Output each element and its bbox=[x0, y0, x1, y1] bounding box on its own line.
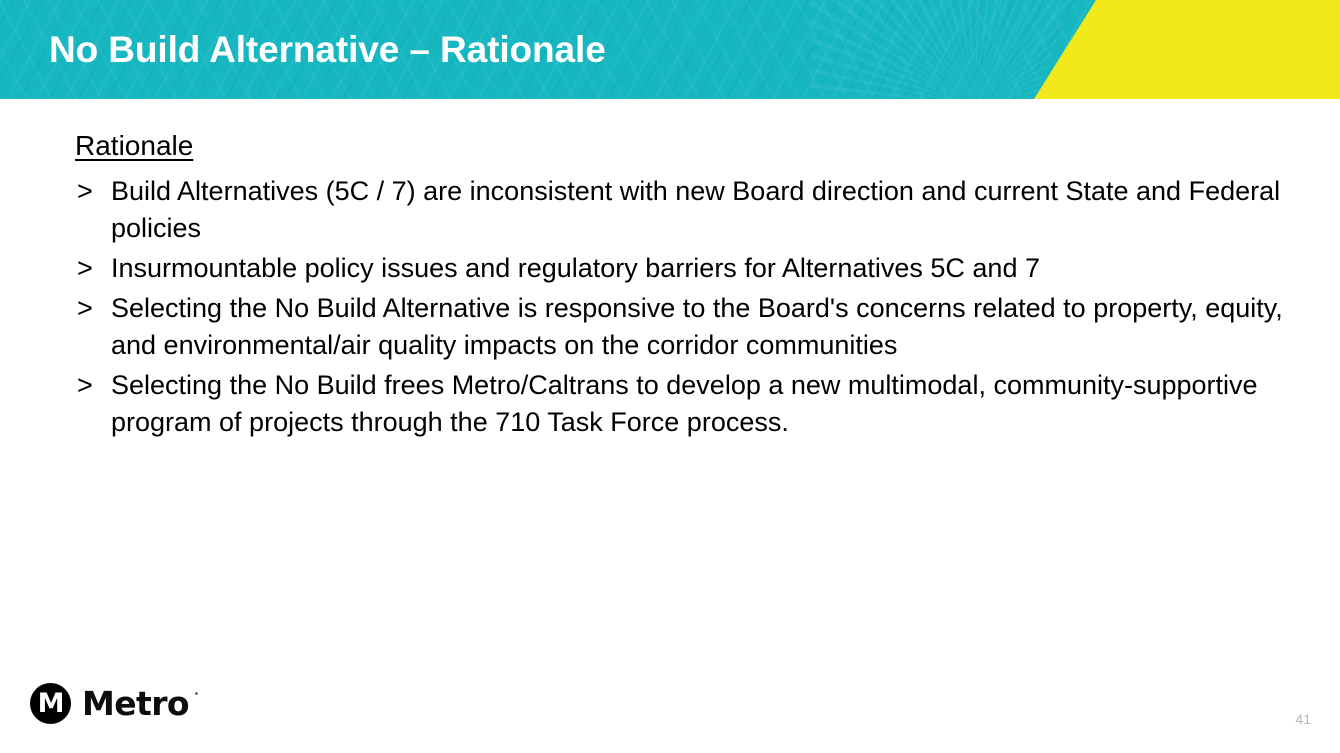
bullet-marker-icon: > bbox=[75, 367, 111, 404]
metro-logo-letter: M bbox=[38, 690, 64, 717]
list-item-text: Selecting the No Build frees Metro/Caltr… bbox=[111, 367, 1290, 441]
bullet-marker-icon: > bbox=[75, 250, 111, 287]
trademark-icon: · bbox=[194, 688, 198, 699]
list-item: > Insurmountable policy issues and regul… bbox=[75, 250, 1290, 287]
slide: No Build Alternative – Rationale Rationa… bbox=[0, 0, 1340, 753]
metro-wordmark: Metro· bbox=[82, 687, 189, 720]
list-item-text: Build Alternatives (5C / 7) are inconsis… bbox=[111, 173, 1290, 247]
section-heading-rationale: Rationale bbox=[75, 129, 193, 163]
list-item-text: Selecting the No Build Alternative is re… bbox=[111, 290, 1290, 364]
page-title: No Build Alternative – Rationale bbox=[49, 26, 606, 74]
list-item: > Build Alternatives (5C / 7) are incons… bbox=[75, 173, 1290, 247]
metro-circle-m-icon: M bbox=[30, 683, 71, 724]
metro-wordmark-text: Metro bbox=[82, 684, 189, 723]
slide-body: Rationale > Build Alternatives (5C / 7) … bbox=[0, 99, 1340, 753]
bullet-marker-icon: > bbox=[75, 173, 111, 210]
bullet-marker-icon: > bbox=[75, 290, 111, 327]
rationale-bullet-list: > Build Alternatives (5C / 7) are incons… bbox=[75, 173, 1290, 444]
list-item: > Selecting the No Build Alternative is … bbox=[75, 290, 1290, 364]
page-number: 41 bbox=[1295, 710, 1311, 728]
metro-logo: M Metro· bbox=[30, 682, 189, 724]
list-item-text: Insurmountable policy issues and regulat… bbox=[111, 250, 1290, 287]
list-item: > Selecting the No Build frees Metro/Cal… bbox=[75, 367, 1290, 441]
slide-header-banner: No Build Alternative – Rationale bbox=[0, 0, 1340, 99]
